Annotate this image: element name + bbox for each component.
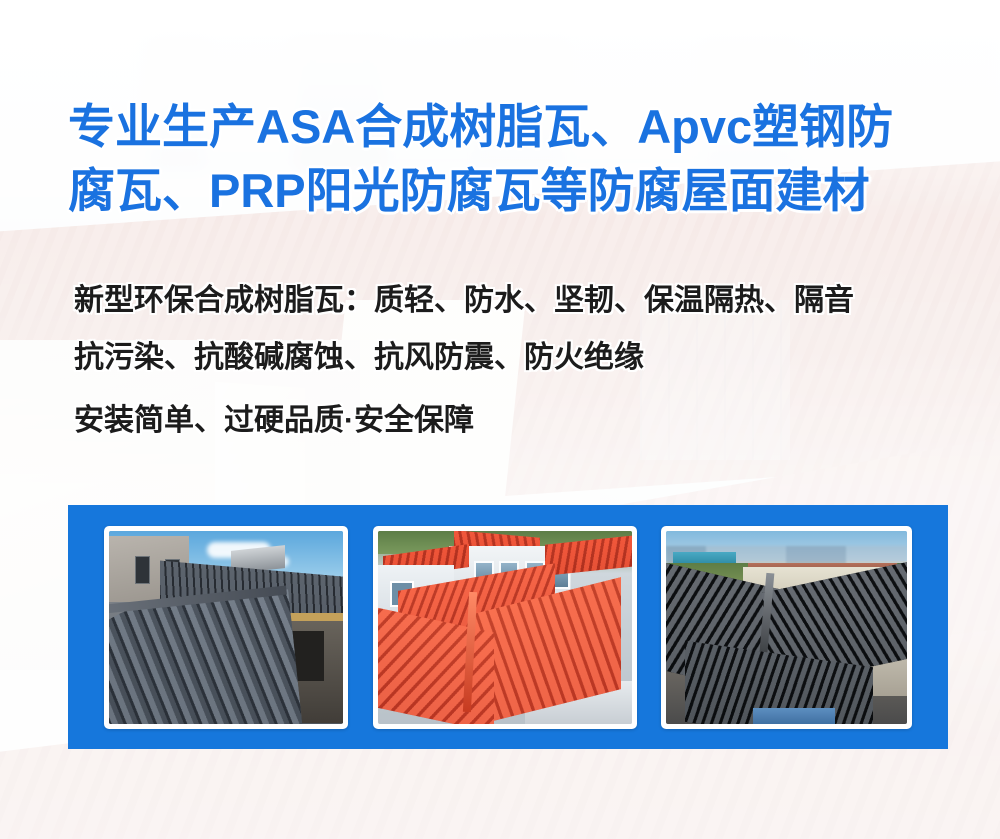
headline-line-2: 腐瓦、PRP阳光防腐瓦等防腐屋面建材 [68,159,958,223]
subheadline-line-2: 抗污染、抗酸碱腐蚀、抗风防震、防火绝缘 [74,329,964,386]
photo-black-tile-roof-village-view [666,531,907,724]
subheadline-block: 新型环保合成树脂瓦：质轻、防水、坚韧、保温隔热、隔音 抗污染、抗酸碱腐蚀、抗风防… [74,272,964,449]
subheadline-line-1: 新型环保合成树脂瓦：质轻、防水、坚韧、保温隔热、隔音 [74,272,964,329]
photo-frame-2[interactable] [373,526,637,729]
photo-gallery-panel [68,505,948,749]
photo-frame-3[interactable] [661,526,912,729]
subheadline-line-3: 安装简单、过硬品质·安全保障 [74,392,964,449]
product-banner: 专业生产ASA合成树脂瓦、Apvc塑钢防 腐瓦、PRP阳光防腐瓦等防腐屋面建材 … [0,0,1000,839]
photo3-blue-canopy [753,708,835,723]
photo-red-resin-tile-roofs-residential [378,531,632,724]
banner-content: 专业生产ASA合成树脂瓦、Apvc塑钢防 腐瓦、PRP阳光防腐瓦等防腐屋面建材 … [0,0,1000,839]
headline-line-1: 专业生产ASA合成树脂瓦、Apvc塑钢防 [68,95,958,159]
headline: 专业生产ASA合成树脂瓦、Apvc塑钢防 腐瓦、PRP阳光防腐瓦等防腐屋面建材 [68,95,958,223]
photo-frame-1[interactable] [104,526,348,729]
photo1-window [135,556,150,584]
photo-grey-glazed-tile-roof-courtyard [109,531,343,724]
